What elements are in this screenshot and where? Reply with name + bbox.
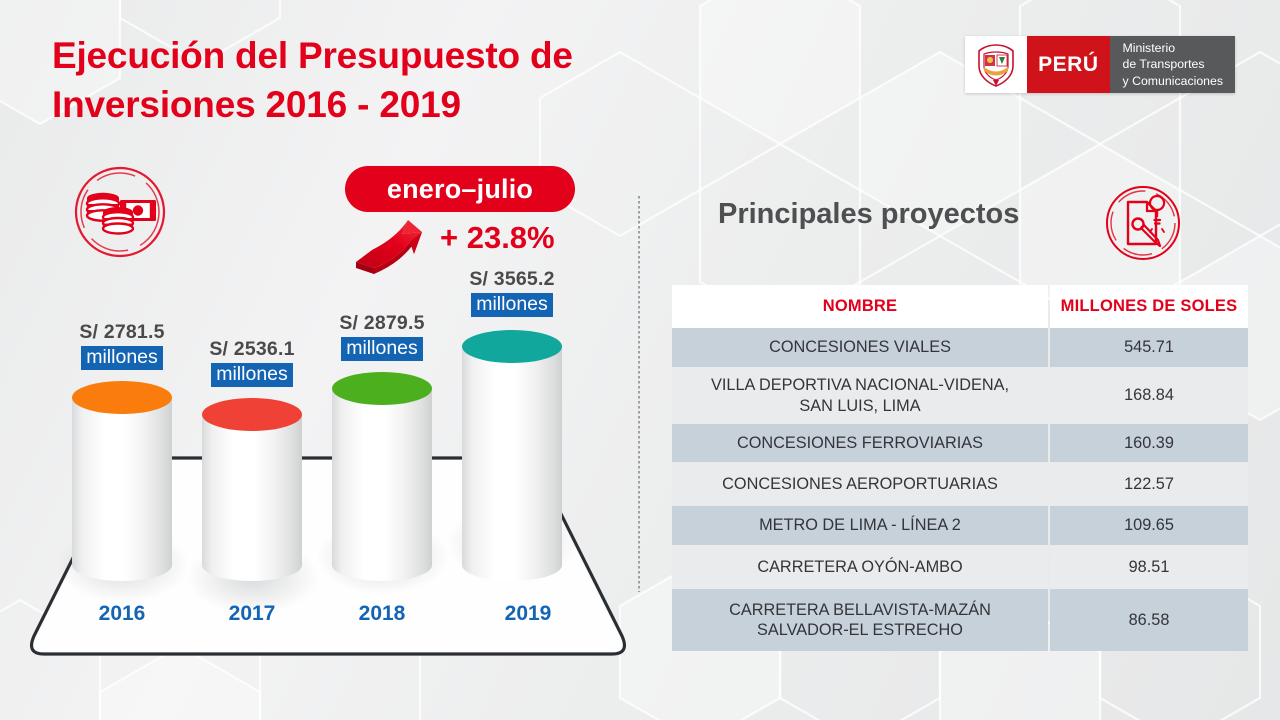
bar-label-2019: S/ 3565.2 millones [432, 268, 592, 317]
project-name: CONCESIONES AEROPORTUARIAS [672, 462, 1048, 506]
bar-unit-2017: millones [211, 363, 293, 387]
bar-unit-2018: millones [341, 337, 423, 361]
bar-2017 [202, 398, 302, 581]
project-value: 168.84 [1050, 367, 1248, 424]
table-row[interactable]: CARRETERA BELLAVISTA-MAZÁN SALVADOR-EL E… [672, 589, 1248, 651]
infographic-page: Ejecución del Presupuesto de Inversiones… [0, 0, 1280, 720]
project-name: CARRETERA OYÓN-AMBO [672, 545, 1048, 589]
project-name: METRO DE LIMA - LÍNEA 2 [672, 506, 1048, 545]
year-label-2017: 2017 [192, 602, 312, 626]
bar-unit-2019: millones [471, 293, 553, 317]
logo-ministry-line2: de Transportes [1123, 56, 1223, 72]
project-value: 160.39 [1050, 424, 1248, 462]
projects-table: NOMBRE MILLONES DE SOLES CONCESIONES VIA… [672, 285, 1248, 651]
table-header-row: NOMBRE MILLONES DE SOLES [672, 285, 1248, 328]
project-value: 109.65 [1050, 506, 1248, 545]
table-row[interactable]: VILLA DEPORTIVA NACIONAL-VIDENA, SAN LUI… [672, 367, 1248, 424]
logo-ministry-line1: Ministerio [1123, 40, 1223, 56]
table-row[interactable]: CARRETERA OYÓN-AMBO 98.51 [672, 545, 1248, 589]
ministry-logo: PERÚ Ministerio de Transportes y Comunic… [965, 36, 1235, 93]
bar-body [462, 346, 562, 581]
bar-2016 [72, 381, 172, 581]
year-label-2018: 2018 [322, 602, 442, 626]
page-title-line2: Inversiones 2016 - 2019 [52, 81, 692, 130]
bar-unit-2016: millones [81, 346, 163, 370]
bar-top-2016 [72, 381, 172, 414]
project-name: VILLA DEPORTIVA NACIONAL-VIDENA, SAN LUI… [672, 367, 1048, 424]
year-label-2019: 2019 [468, 602, 588, 626]
bar-value-2019: S/ 3565.2 [432, 268, 592, 291]
page-title-line1: Ejecución del Presupuesto de [52, 32, 692, 81]
vertical-dotted-divider [638, 196, 640, 592]
bar-top-2019 [462, 330, 562, 363]
project-value: 545.71 [1050, 328, 1248, 367]
table-row[interactable]: METRO DE LIMA - LÍNEA 2 109.65 [672, 506, 1248, 545]
year-label-2016: 2016 [62, 602, 182, 626]
logo-peru-label: PERÚ [1027, 36, 1109, 93]
money-coins-banknote-icon [68, 160, 172, 269]
project-value: 86.58 [1050, 589, 1248, 651]
bar-body [202, 414, 302, 581]
project-name: CONCESIONES VIALES [672, 328, 1048, 367]
right-panel-title: Principales proyectos [718, 198, 1019, 231]
table-row[interactable]: CONCESIONES VIALES 545.71 [672, 328, 1248, 367]
table-row[interactable]: CONCESIONES FERROVIARIAS 160.39 [672, 424, 1248, 462]
bar-body [72, 397, 172, 581]
project-value: 122.57 [1050, 462, 1248, 506]
bar-top-2018 [332, 372, 432, 405]
bar-2018 [332, 372, 432, 581]
project-value: 98.51 [1050, 545, 1248, 589]
bar-top-2017 [202, 398, 302, 431]
table-header-nombre: NOMBRE [672, 285, 1048, 328]
bar-body [332, 388, 432, 581]
table-row[interactable]: CONCESIONES AEROPORTUARIAS 122.57 [672, 462, 1248, 506]
project-name: CONCESIONES FERROVIARIAS [672, 424, 1048, 462]
period-badge: enero–julio [345, 166, 575, 212]
peru-coat-of-arms-icon [965, 36, 1027, 93]
growth-arrow-up-icon [352, 214, 444, 281]
growth-percent: + 23.8% [440, 220, 555, 256]
document-idea-pencil-icon [1100, 180, 1186, 271]
logo-ministry-text: Ministerio de Transportes y Comunicacion… [1110, 36, 1235, 93]
bar-label-2018: S/ 2879.5 millones [302, 312, 462, 361]
project-name: CARRETERA BELLAVISTA-MAZÁN SALVADOR-EL E… [672, 589, 1048, 651]
table-header-millones: MILLONES DE SOLES [1050, 285, 1248, 328]
logo-ministry-line3: y Comunicaciones [1123, 73, 1223, 89]
bar-2019 [462, 330, 562, 581]
page-title: Ejecución del Presupuesto de Inversiones… [52, 32, 692, 130]
